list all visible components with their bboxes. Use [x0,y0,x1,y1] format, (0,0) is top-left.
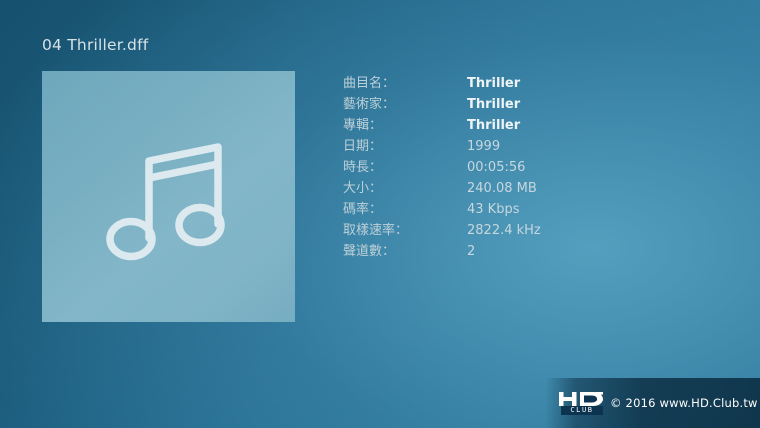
album-art-panel [42,71,295,322]
metadata-row-channels: 聲道數： 2 [343,241,673,262]
metadata-value-title: Thriller [467,73,520,94]
metadata-value-album: Thriller [467,115,520,136]
metadata-label-samplerate: 取樣速率： [343,220,467,241]
hd-logo-club-band: CLUB [561,406,603,415]
metadata-value-size: 240.08 MB [467,178,537,199]
watermark: CLUB © 2016 www.HD.Club.tw [545,378,760,428]
hd-logo-mark-icon [559,392,603,406]
header: 04 Thriller.dff [42,32,642,58]
metadata-row-album: 專輯： Thriller [343,115,673,136]
hd-logo-club-text: CLUB [570,406,593,415]
metadata-row-samplerate: 取樣速率： 2822.4 kHz [343,220,673,241]
metadata-label-size: 大小： [343,178,467,199]
metadata-value-duration: 00:05:56 [467,157,525,178]
hd-club-logo-icon: CLUB [559,392,603,415]
metadata-value-channels: 2 [467,241,475,262]
metadata-label-album: 專輯： [343,115,467,136]
metadata-label-artist: 藝術家： [343,94,467,115]
metadata-label-channels: 聲道數： [343,241,467,262]
metadata-value-samplerate: 2822.4 kHz [467,220,541,241]
metadata-row-bitrate: 碼率： 43 Kbps [343,199,673,220]
metadata-row-title: 曲目名： Thriller [343,73,673,94]
metadata-label-date: 日期： [343,136,467,157]
metadata-row-size: 大小： 240.08 MB [343,178,673,199]
metadata-value-bitrate: 43 Kbps [467,199,519,220]
metadata-label-duration: 時長： [343,157,467,178]
metadata-value-artist: Thriller [467,94,520,115]
metadata-list: 曲目名： Thriller 藝術家： Thriller 專輯： Thriller… [343,73,673,262]
metadata-row-artist: 藝術家： Thriller [343,94,673,115]
metadata-value-date: 1999 [467,136,500,157]
media-info-screen: 04 Thriller.dff 曲目名： Thriller 藝術家： Thril… [0,0,760,428]
metadata-row-duration: 時長： 00:05:56 [343,157,673,178]
metadata-label-title: 曲目名： [343,73,467,94]
metadata-label-bitrate: 碼率： [343,199,467,220]
page-title: 04 Thriller.dff [42,32,642,58]
watermark-text: © 2016 www.HD.Club.tw [610,396,758,410]
music-note-icon [94,122,244,272]
metadata-row-date: 日期： 1999 [343,136,673,157]
